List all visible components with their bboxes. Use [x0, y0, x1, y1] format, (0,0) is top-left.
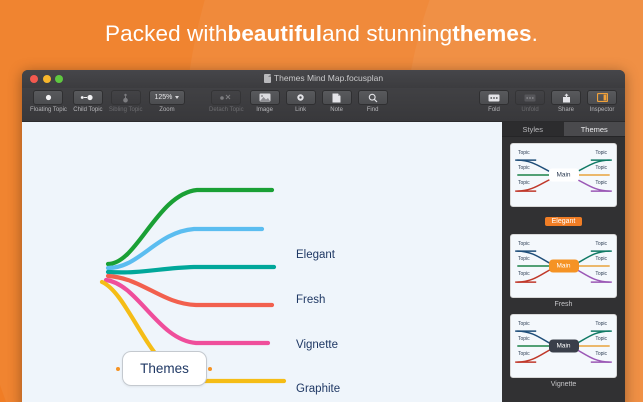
toolbar-item-child-topic[interactable]: Child Topic	[73, 90, 103, 113]
document-icon	[264, 74, 271, 83]
branch-path-vignette	[108, 267, 274, 272]
child-topic-icon[interactable]	[73, 90, 103, 105]
toolbar-item-sibling-topic[interactable]: Sibling Topic	[109, 90, 143, 113]
branch-label-fresh[interactable]: Fresh	[296, 294, 325, 306]
toolbar-label-link: Link	[295, 107, 306, 113]
theme-name-fresh: Fresh	[510, 301, 617, 308]
mindmap-canvas[interactable]: Themes Elegant Fresh Vignette Graphite O…	[22, 122, 502, 402]
theme-preview-topic-6: Topic	[595, 271, 607, 277]
branch-path-graphite	[108, 276, 272, 305]
theme-preview-topic-3: Topic	[518, 180, 530, 186]
app-window: Themes Mind Map.focusplan Floating Topic…	[22, 70, 625, 402]
toolbar-label-unfold: Unfold	[521, 107, 538, 113]
link-icon[interactable]	[286, 90, 316, 105]
document-title: Themes Mind Map.focusplan	[274, 73, 383, 83]
theme-card-fresh[interactable]: Topic Topic Topic Topic Topic Topic Main…	[510, 234, 617, 308]
toolbar-group-middle: Detach Topic Image Link Note	[209, 90, 388, 113]
theme-preview-topic-4: Topic	[595, 150, 607, 156]
headline-text-3: .	[532, 21, 538, 47]
theme-name-elegant: Elegant	[545, 217, 583, 226]
theme-name-vignette: Vignette	[510, 381, 617, 388]
zoom-value: 125%	[155, 94, 173, 101]
chevron-down-icon	[175, 96, 179, 99]
toolbar-label-sibling-topic: Sibling Topic	[109, 107, 143, 113]
headline-text-2: and stunning	[322, 21, 452, 47]
theme-preview-topic-6: Topic	[595, 180, 607, 186]
inspector-sidebar: Styles Themes	[502, 122, 625, 402]
inspector-icon[interactable]	[587, 90, 617, 105]
unfold-icon[interactable]	[515, 90, 545, 105]
share-icon[interactable]	[551, 90, 581, 105]
tab-themes[interactable]: Themes	[564, 122, 626, 136]
central-topic-label: Themes	[140, 361, 189, 376]
theme-preview-topic-3: Topic	[518, 351, 530, 357]
promo-headline: Packed with beautiful and stunning theme…	[0, 0, 643, 68]
tab-themes-label: Themes	[581, 125, 608, 134]
toolbar-label-zoom: Zoom	[159, 107, 174, 113]
tab-styles[interactable]: Styles	[502, 122, 564, 136]
headline-text-1: Packed with	[105, 21, 227, 47]
toolbar-item-floating-topic[interactable]: Floating Topic	[30, 90, 67, 113]
inspector-tabs: Styles Themes	[502, 122, 625, 137]
theme-preview-topic-4: Topic	[595, 321, 607, 327]
theme-card-vignette[interactable]: Topic Topic Topic Topic Topic Topic Main…	[510, 314, 617, 388]
window-body: Themes Elegant Fresh Vignette Graphite O…	[22, 122, 625, 402]
mindmap-branches	[22, 122, 502, 402]
branch-label-elegant[interactable]: Elegant	[296, 249, 335, 261]
toolbar-label-child-topic: Child Topic	[73, 107, 102, 113]
theme-preview-topic-5: Topic	[595, 256, 607, 262]
note-icon[interactable]	[322, 90, 352, 105]
toolbar-item-note[interactable]: Note	[322, 90, 352, 113]
theme-preview-topic-1: Topic	[518, 150, 530, 156]
toolbar-label-share: Share	[558, 107, 574, 113]
toolbar-label-image: Image	[256, 107, 273, 113]
toolbar-item-zoom[interactable]: 125% Zoom	[149, 90, 186, 113]
branch-label-vignette[interactable]: Vignette	[296, 339, 338, 351]
theme-preview-topic-5: Topic	[595, 165, 607, 171]
toolbar-item-inspector[interactable]: Inspector	[587, 90, 617, 113]
image-icon[interactable]	[250, 90, 280, 105]
theme-preview-topic-3: Topic	[518, 271, 530, 277]
toolbar-item-link[interactable]: Link	[286, 90, 316, 113]
sibling-topic-icon[interactable]	[111, 90, 141, 105]
detach-topic-icon[interactable]	[211, 90, 241, 105]
tab-styles-label: Styles	[523, 125, 543, 134]
theme-preview-elegant[interactable]: Topic Topic Topic Topic Topic Topic Main	[510, 143, 617, 207]
theme-preview-topic-2: Topic	[518, 336, 530, 342]
toolbar-item-detach-topic[interactable]: Detach Topic	[209, 90, 244, 113]
theme-preview-topic-2: Topic	[518, 256, 530, 262]
theme-preview-main-node: Main	[549, 340, 579, 353]
toolbar: Floating Topic Child Topic Sibling Topic…	[22, 88, 625, 122]
toolbar-label-fold: Fold	[488, 107, 500, 113]
floating-topic-icon[interactable]	[33, 90, 63, 105]
theme-preview-main-node: Main	[549, 169, 579, 182]
theme-preview-topic-2: Topic	[518, 165, 530, 171]
central-topic-node[interactable]: Themes	[122, 351, 207, 386]
theme-preview-fresh[interactable]: Topic Topic Topic Topic Topic Topic Main	[510, 234, 617, 298]
toolbar-item-unfold[interactable]: Unfold	[515, 90, 545, 113]
toolbar-label-note: Note	[330, 107, 343, 113]
branch-label-graphite[interactable]: Graphite	[296, 383, 340, 395]
headline-bold-2: themes	[452, 21, 531, 47]
toolbar-item-fold[interactable]: Fold	[479, 90, 509, 113]
toolbar-item-find[interactable]: Find	[358, 90, 388, 113]
headline-bold-1: beautiful	[227, 21, 322, 47]
theme-preview-topic-4: Topic	[595, 241, 607, 247]
toolbar-label-find: Find	[367, 107, 379, 113]
toolbar-group-right: Fold Unfold Share Inspector	[479, 90, 617, 113]
document-title-bar: Themes Mind Map.focusplan	[22, 73, 625, 83]
theme-name-wrap-elegant: Elegant	[510, 210, 617, 228]
toolbar-label-inspector: Inspector	[590, 107, 615, 113]
toolbar-group-left: Floating Topic Child Topic Sibling Topic…	[30, 90, 185, 113]
theme-preview-topic-1: Topic	[518, 241, 530, 247]
theme-preview-vignette[interactable]: Topic Topic Topic Topic Topic Topic Main	[510, 314, 617, 378]
toolbar-item-image[interactable]: Image	[250, 90, 280, 113]
connector-dot-right	[208, 367, 212, 371]
theme-preview-topic-5: Topic	[595, 336, 607, 342]
theme-preview-topic-1: Topic	[518, 321, 530, 327]
search-icon[interactable]	[358, 90, 388, 105]
fold-icon[interactable]	[479, 90, 509, 105]
zoom-popup-button[interactable]: 125%	[149, 90, 186, 105]
theme-preview-topic-6: Topic	[595, 351, 607, 357]
theme-preview-main-node: Main	[549, 260, 579, 273]
window-titlebar: Themes Mind Map.focusplan	[22, 70, 625, 88]
theme-card-elegant[interactable]: Topic Topic Topic Topic Topic Topic Main…	[510, 143, 617, 228]
theme-list[interactable]: Topic Topic Topic Topic Topic Topic Main…	[502, 137, 625, 402]
toolbar-label-detach-topic: Detach Topic	[209, 107, 244, 113]
toolbar-item-share[interactable]: Share	[551, 90, 581, 113]
toolbar-label-floating-topic: Floating Topic	[30, 107, 67, 113]
connector-dot-left	[116, 367, 120, 371]
